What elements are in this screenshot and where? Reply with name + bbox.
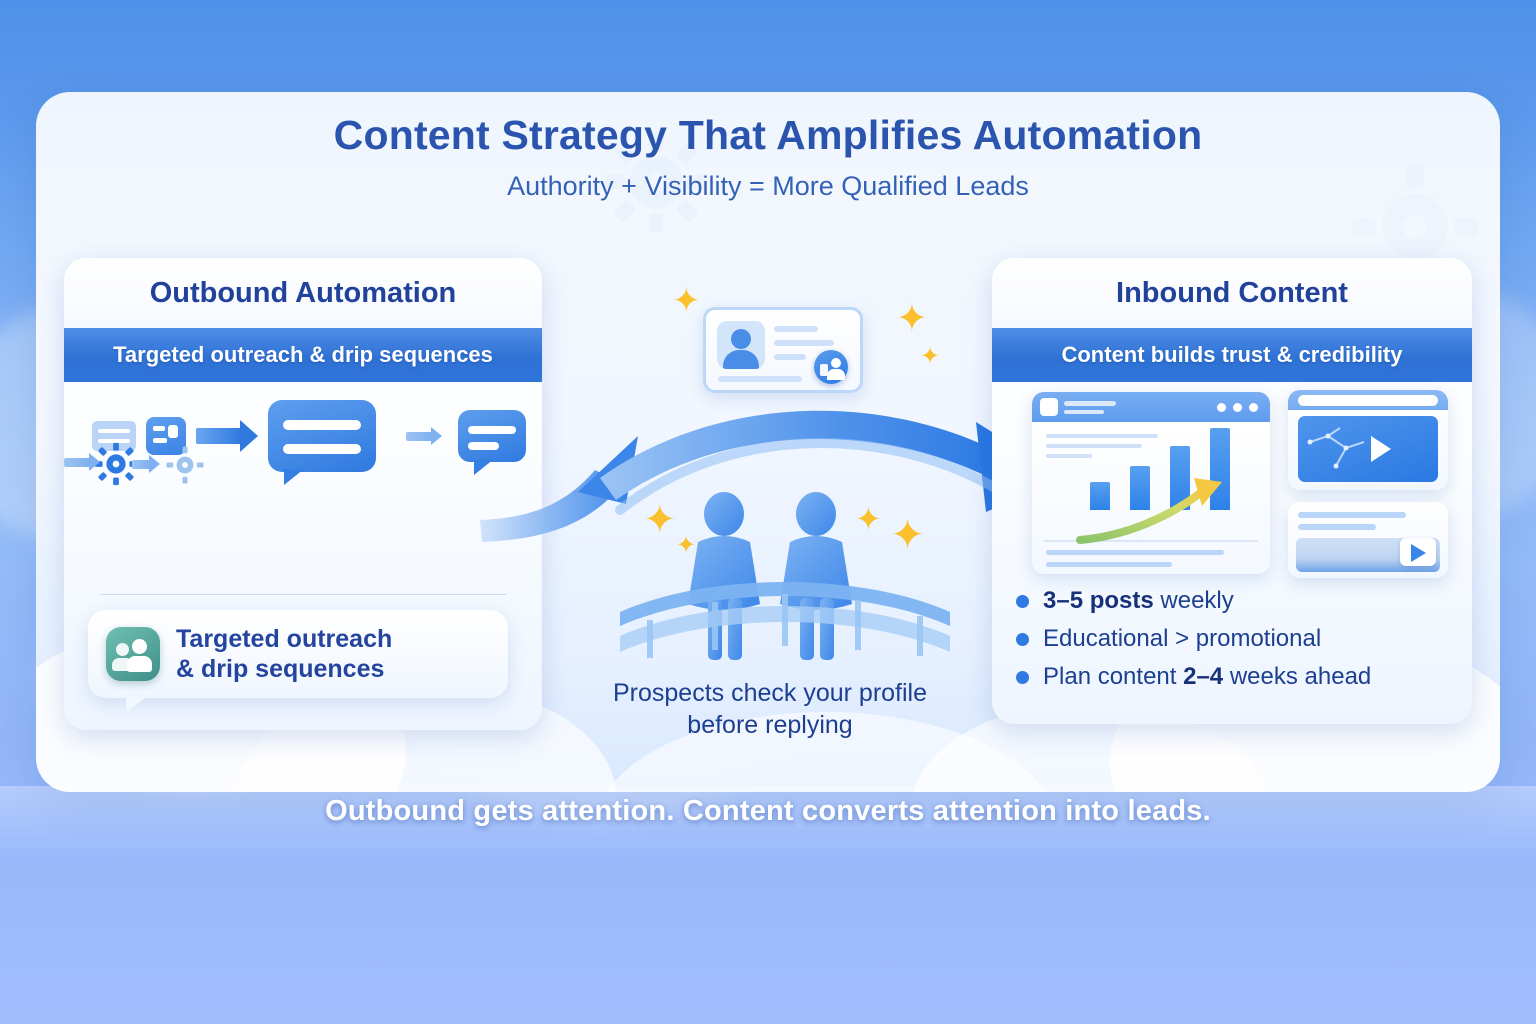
browser-window-chart-icon [1032, 392, 1270, 574]
sparkle-icon: ✦ [855, 503, 882, 535]
page-subtitle: Authority + Visibility = More Qualified … [0, 171, 1536, 202]
play-button[interactable] [1400, 538, 1436, 566]
arrow-right-icon [64, 458, 90, 467]
bullet-dot-icon [1016, 671, 1029, 684]
gear-small-icon [164, 444, 206, 486]
video-player-icon [1288, 390, 1448, 490]
arrow-right-icon [406, 432, 432, 441]
verified-person-badge-icon [814, 350, 848, 384]
feature-chip-text: Targeted outreach & drip sequences [176, 624, 392, 685]
sparkle-icon: ✦ [890, 514, 925, 556]
list-item: 3–5 posts weekly [1016, 587, 1371, 615]
sparkle-icon: ✦ [672, 284, 701, 318]
play-icon [1411, 544, 1426, 562]
center-caption-line1: Prospects check your profile [555, 678, 985, 710]
page-title: Content Strategy That Amplifies Automati… [0, 112, 1536, 159]
chat-bubble-icon [268, 400, 376, 472]
left-panel-band: Targeted outreach & drip sequences [64, 328, 542, 382]
header: Content Strategy That Amplifies Automati… [0, 112, 1536, 202]
panel-inbound-content: Inbound Content Content builds trust & c… [992, 258, 1472, 724]
sparkle-icon: ✦ [896, 300, 928, 338]
bullet-strong: 2–4 [1183, 663, 1223, 690]
bullet-rest2: weeks ahead [1223, 663, 1371, 690]
person-icon [780, 492, 852, 660]
network-lines-icon [1306, 424, 1376, 476]
left-panel-title: Outbound Automation [64, 258, 542, 328]
feature-chip-targeted-outreach[interactable]: Targeted outreach & drip sequences [88, 610, 508, 698]
center-caption-line2: before replying [555, 710, 985, 742]
bridge-icon [620, 582, 950, 658]
bullet-rest: Plan content [1043, 663, 1183, 690]
avatar [717, 321, 765, 369]
play-icon[interactable] [1371, 436, 1391, 462]
arrow-right-icon [132, 460, 150, 469]
list-item: Educational > promotional [1016, 625, 1371, 653]
person-icon [688, 492, 760, 660]
bullet-text: 3–5 posts weekly [1043, 587, 1234, 615]
center-caption: Prospects check your profile before repl… [555, 678, 985, 741]
feature-chip-line2: & drip sequences [176, 654, 392, 685]
outbound-flow-row-bottom [82, 728, 508, 730]
window-titlebar [1032, 392, 1270, 422]
sparkle-icon: ✦ [920, 345, 940, 369]
window-page [1032, 422, 1270, 574]
bullet-dot-icon [1016, 595, 1029, 608]
bullet-strong: 3–5 posts [1043, 587, 1154, 614]
bullet-text: Plan content 2–4 weeks ahead [1043, 663, 1371, 691]
sparkle-icon: ✦ [676, 534, 696, 558]
upward-trend-arrow-icon [1076, 476, 1246, 546]
list-item: Plan content 2–4 weeks ahead [1016, 663, 1371, 691]
bullet-dot-icon [1016, 633, 1029, 646]
footer-text: Outbound gets attention. Content convert… [0, 795, 1536, 828]
gear-icon [132, 728, 206, 730]
bullet-text: Educational > promotional [1043, 625, 1321, 653]
bullet-rest: weekly [1154, 587, 1234, 614]
profile-card-icon [703, 307, 863, 393]
infographic-canvas: Content Strategy That Amplifies Automati… [0, 0, 1536, 1024]
feature-chip-line1: Targeted outreach [176, 624, 392, 655]
right-panel-band: Content builds trust & credibility [992, 328, 1472, 382]
right-panel-body: 3–5 posts weekly Educational > promotion… [992, 382, 1472, 724]
divider [100, 594, 506, 595]
inbound-bullet-list: 3–5 posts weekly Educational > promotion… [1016, 587, 1371, 701]
sparkle-icon: ✦ [643, 500, 677, 540]
people-icon [106, 627, 160, 681]
video-thumbnail-icon [1288, 502, 1448, 578]
right-panel-title: Inbound Content [992, 258, 1472, 328]
arrow-right-icon [196, 428, 242, 444]
